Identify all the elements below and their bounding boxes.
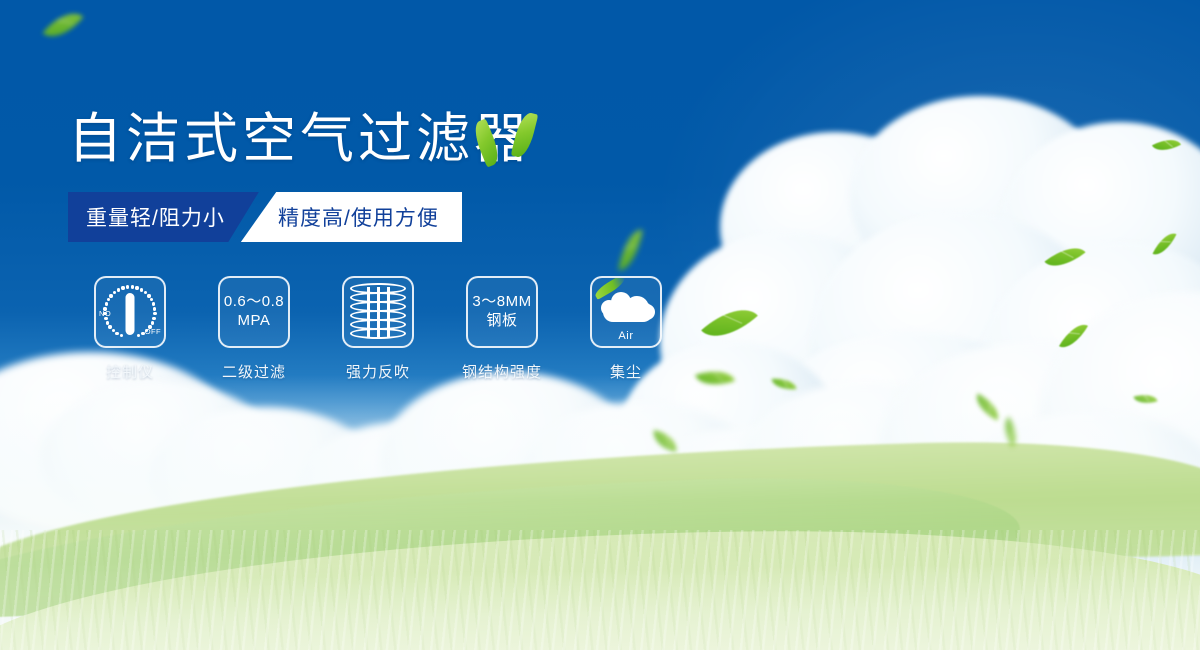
grass-field bbox=[0, 460, 1200, 650]
sprout-leaves-icon bbox=[472, 108, 582, 170]
product-banner: 自洁式空气过滤器 重量轻/阻力小 精度高/使用方便 NO OFF 控制仪 bbox=[0, 0, 1200, 650]
feature-label: 集尘 bbox=[564, 361, 688, 382]
feature-item-pressure[interactable]: 0.6～0.8 MPA 二级过滤 bbox=[192, 276, 316, 382]
steel-thickness: 3～8MM bbox=[472, 293, 531, 312]
control-dial-icon: NO OFF bbox=[94, 276, 166, 348]
feature-item-steel[interactable]: 3～8MM 钢板 钢结构强度 bbox=[440, 276, 564, 382]
feature-label: 控制仪 bbox=[68, 361, 192, 382]
banner-content: 自洁式空气过滤器 重量轻/阻力小 精度高/使用方便 NO OFF 控制仪 bbox=[68, 112, 768, 382]
feature-label: 强力反吹 bbox=[316, 361, 440, 382]
pressure-range: 0.6～0.8 bbox=[224, 293, 284, 312]
air-cloud-icon: Air bbox=[590, 276, 662, 348]
pressure-unit: MPA bbox=[224, 312, 284, 331]
steel-plate-text-icon: 3～8MM 钢板 bbox=[466, 276, 538, 348]
cloud-graphic: Air bbox=[595, 284, 657, 340]
feature-item-control[interactable]: NO OFF 控制仪 bbox=[68, 276, 192, 382]
coil-filter-icon bbox=[342, 276, 414, 348]
feature-list: NO OFF 控制仪 0.6～0.8 MPA 二级过滤 bbox=[68, 276, 768, 382]
steel-material: 钢板 bbox=[472, 312, 531, 331]
air-label: Air bbox=[595, 330, 657, 342]
feature-item-dust[interactable]: Air 集尘 bbox=[564, 276, 688, 382]
subtitle-left-tag: 重量轻/阻力小 bbox=[68, 192, 259, 242]
coil-graphic bbox=[350, 283, 406, 341]
subtitle-right-tag: 精度高/使用方便 bbox=[241, 192, 462, 242]
feature-label: 钢结构强度 bbox=[440, 361, 564, 382]
dial-graphic: NO OFF bbox=[98, 280, 162, 344]
page-title: 自洁式空气过滤器 bbox=[68, 112, 768, 166]
feature-label: 二级过滤 bbox=[192, 361, 316, 382]
subtitle-bar: 重量轻/阻力小 精度高/使用方便 bbox=[68, 192, 462, 242]
pressure-text-icon: 0.6～0.8 MPA bbox=[218, 276, 290, 348]
feature-item-blowback[interactable]: 强力反吹 bbox=[316, 276, 440, 382]
